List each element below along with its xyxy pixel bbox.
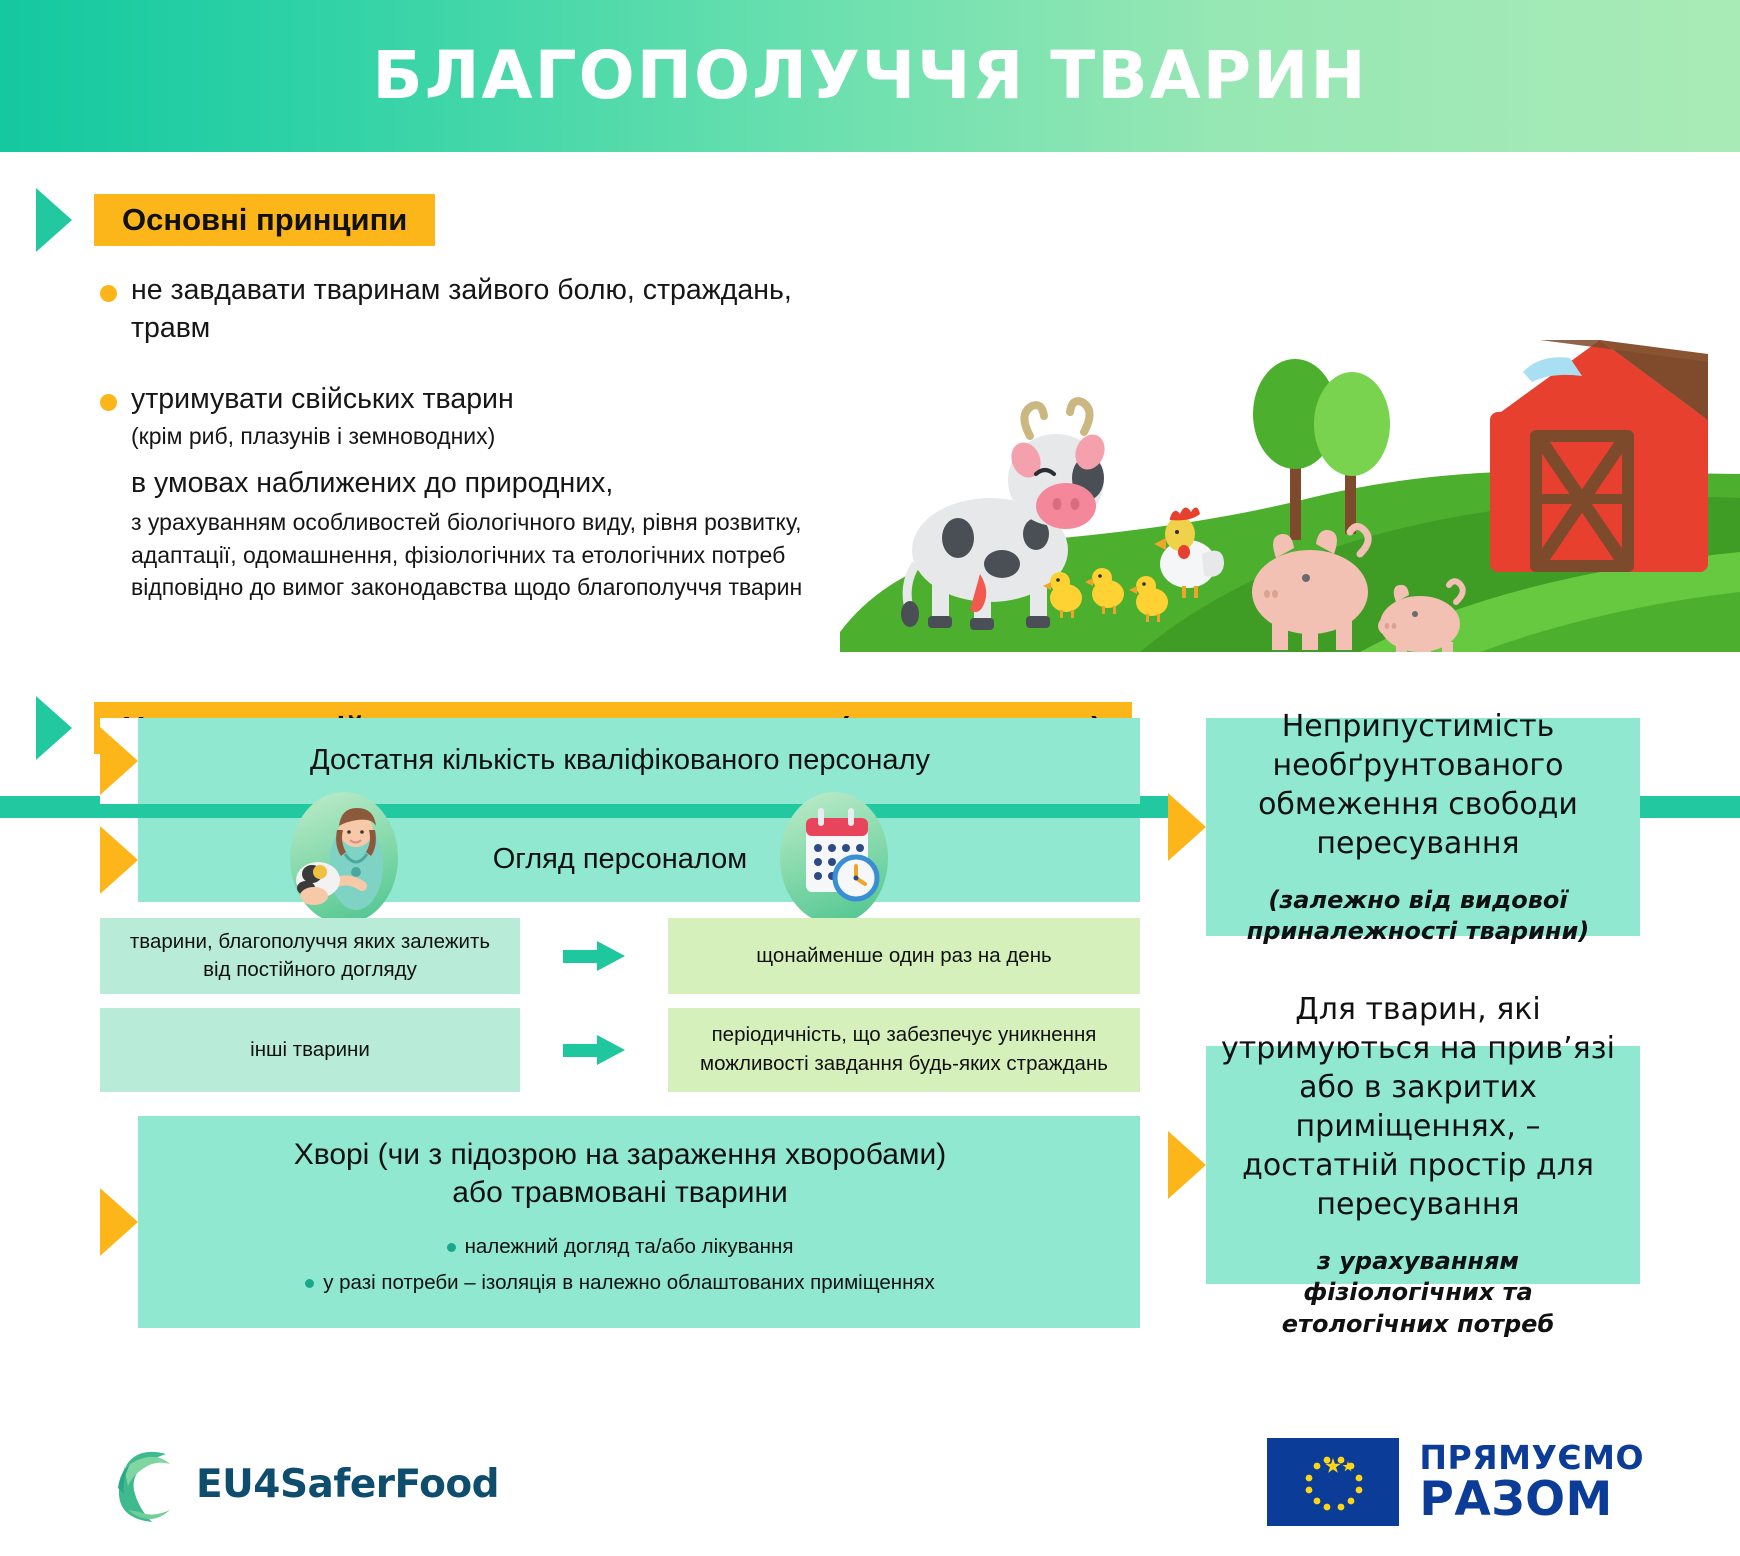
bullet-dot-icon bbox=[100, 394, 117, 411]
chevron-right-icon bbox=[100, 1188, 138, 1256]
card-qualified-staff-title: Достатня кількість кваліфікованого персо… bbox=[310, 742, 930, 779]
card-tethered-animals: Для тварин, які утримуються на прив’язі … bbox=[1168, 1046, 1640, 1284]
card-freedom-of-movement-subtitle: (залежно від видової приналежності твари… bbox=[1220, 885, 1616, 947]
card-freedom-of-movement: Неприпустимість необґрунтованого обмежен… bbox=[1168, 718, 1640, 936]
chevron-right-icon bbox=[1168, 793, 1206, 861]
principle-1-text: не завдавати тваринам зайвого болю, стра… bbox=[131, 272, 860, 347]
principle-2-text-secondary: в умовах наближених до природних, bbox=[131, 465, 851, 503]
bullet-dot-icon bbox=[447, 1243, 456, 1252]
flow-result: щонайменше один раз на день bbox=[668, 918, 1140, 994]
card-staff-review: Огляд персоналом bbox=[100, 818, 1140, 902]
page-title: БЛАГОПОЛУЧЧЯ ТВАРИН bbox=[372, 43, 1367, 109]
list-item: у разі потреби – ізоляція в належно обла… bbox=[100, 1269, 1140, 1298]
card-sick-animals-title-line2: або травмовані тварини bbox=[100, 1174, 1140, 1212]
eu-flag-icon bbox=[1267, 1438, 1399, 1526]
card-sick-animals-title-line1: Хворі (чи з підозрою на зараження хвороб… bbox=[100, 1136, 1140, 1174]
section-principles: Основні принципи не завдавати тваринам з… bbox=[0, 152, 1740, 652]
bullet-dot-icon bbox=[100, 285, 117, 302]
arrow-right-icon bbox=[563, 939, 625, 973]
barn-icon bbox=[1490, 340, 1708, 572]
triangle-marker-icon bbox=[36, 188, 72, 252]
principles-list: не завдавати тваринам зайвого болю, стра… bbox=[100, 272, 860, 618]
list-item: не завдавати тваринам зайвого болю, стра… bbox=[100, 272, 860, 347]
eu4saferfood-logo: EU4SaferFood bbox=[104, 1438, 499, 1530]
flow-condition: тварини, благополуччя яких залежить від … bbox=[100, 918, 520, 994]
eu4saferfood-wordmark: EU4SaferFood bbox=[196, 1462, 499, 1507]
card-qualified-staff: Достатня кількість кваліфікованого персо… bbox=[100, 718, 1140, 804]
card-tethered-animals-subtitle: з урахуванням фізіологічних та етологічн… bbox=[1220, 1246, 1616, 1340]
chevron-right-icon bbox=[1168, 1131, 1206, 1199]
principle-2-text: утримувати свійських тварин bbox=[131, 381, 851, 419]
flow-arrow bbox=[520, 1008, 668, 1092]
card-freedom-of-movement-title: Неприпустимість необґрунтованого обмежен… bbox=[1220, 707, 1616, 863]
triangle-marker-icon bbox=[36, 696, 72, 760]
chevron-right-icon bbox=[100, 727, 138, 795]
card-tethered-animals-title: Для тварин, які утримуються на прив’язі … bbox=[1220, 990, 1616, 1224]
calendar-clock-icon bbox=[780, 792, 888, 924]
page-header: БЛАГОПОЛУЧЧЯ ТВАРИН bbox=[0, 0, 1740, 152]
vet-with-animal-icon bbox=[290, 792, 398, 924]
section1-badge-row: Основні принципи bbox=[36, 188, 435, 252]
principle-2-body: з урахуванням особливостей біологічного … bbox=[131, 506, 851, 604]
principle-2-subtext: (крім риб, плазунів і земноводних) bbox=[131, 421, 851, 453]
measure-text: у разі потреби – ізоляція в належно обла… bbox=[323, 1269, 935, 1298]
eu-together-line2: РАЗОМ bbox=[1419, 1476, 1644, 1523]
flow-result: періодичність, що забезпечує уникнення м… bbox=[668, 1008, 1140, 1092]
arrow-right-icon bbox=[563, 1033, 625, 1067]
right-column: Неприпустимість необґрунтованого обмежен… bbox=[1168, 718, 1640, 1284]
measure-text: належний догляд та/або лікування bbox=[465, 1233, 794, 1262]
bullet-dot-icon bbox=[305, 1279, 314, 1288]
infographic-page: БЛАГОПОЛУЧЧЯ ТВАРИН Основні принципи не … bbox=[0, 0, 1740, 1556]
farm-scene-illustration bbox=[840, 302, 1740, 652]
eu-together-wordmark: ПРЯМУЄМО РАЗОМ bbox=[1419, 1441, 1644, 1523]
page-footer: EU4SaferFood bbox=[0, 1420, 1740, 1556]
flow-arrow bbox=[520, 918, 668, 994]
flow-row: інші тварини періодичність, що забезпечу… bbox=[100, 1008, 1140, 1092]
eu4saferfood-mark-icon bbox=[104, 1438, 190, 1530]
chevron-right-icon bbox=[100, 826, 138, 894]
eu-together-line1: ПРЯМУЄМО bbox=[1419, 1441, 1644, 1474]
eu-together-logo: ПРЯМУЄМО РАЗОМ bbox=[1267, 1438, 1644, 1526]
review-frequency-flow: тварини, благополуччя яких залежить від … bbox=[100, 918, 1140, 1092]
card-staff-review-title: Огляд персоналом bbox=[493, 841, 747, 878]
card-sick-animals: Хворі (чи з підозрою на зараження хвороб… bbox=[100, 1116, 1140, 1328]
list-item: належний догляд та/або лікування bbox=[100, 1233, 1140, 1262]
left-column: Достатня кількість кваліфікованого персо… bbox=[100, 718, 1140, 1328]
flow-condition: інші тварини bbox=[100, 1008, 520, 1092]
flow-row: тварини, благополуччя яких залежить від … bbox=[100, 918, 1140, 994]
section1-badge: Основні принципи bbox=[94, 194, 435, 246]
list-item: утримувати свійських тварин (крім риб, п… bbox=[100, 381, 860, 604]
sick-animals-measures: належний догляд та/або лікування у разі … bbox=[100, 1233, 1140, 1298]
